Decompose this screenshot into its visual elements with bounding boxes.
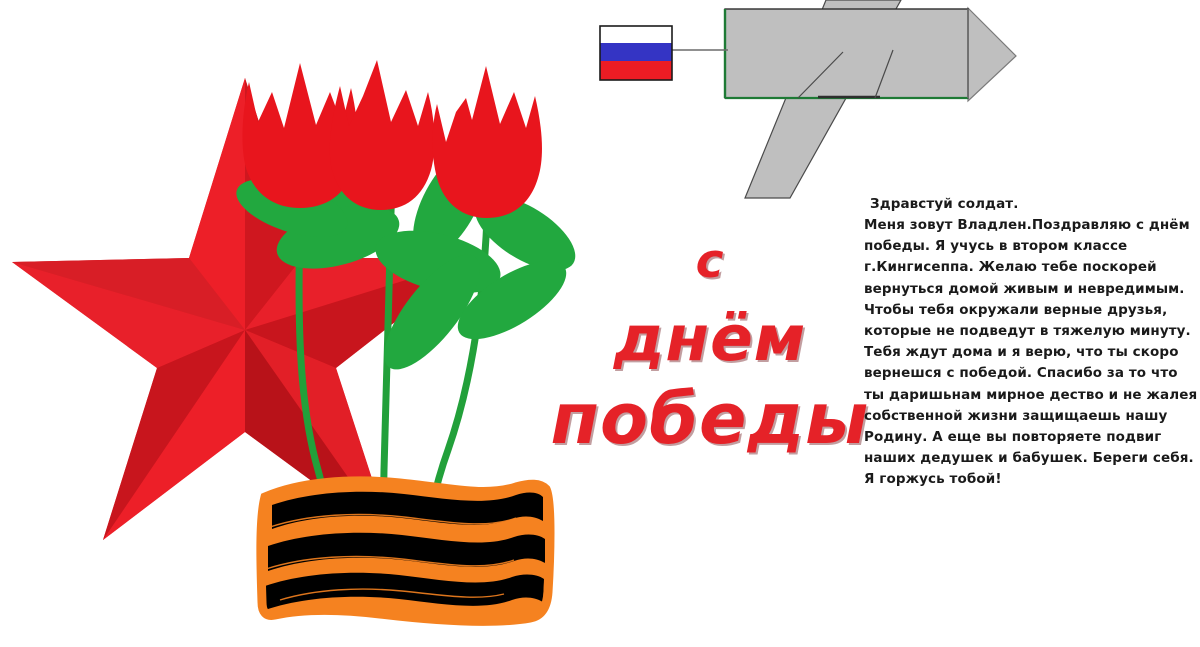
flag-stripe-blue — [600, 43, 672, 61]
flag-stripe-red — [600, 61, 672, 80]
letter-body: Меня зовут Владлен.Поздравляю с днёмпобе… — [864, 215, 1184, 491]
letter-line: Тебя ждут дома и я верю, что ты скоро — [864, 342, 1184, 363]
letter-salutation: Здравстуй солдат. — [870, 196, 1184, 212]
letter-text-block: Здравстуй солдат. Меня зовут Владлен.Поз… — [864, 196, 1184, 491]
ribbon-black-stripes — [265, 492, 545, 610]
arrow-head — [968, 8, 1016, 101]
tulip-blossoms — [242, 60, 542, 218]
letter-line: вернуться домой живым и невредимым. — [864, 279, 1184, 300]
grey-arrow-marker — [725, 0, 1016, 198]
letter-line: ты даришьнам мирное дество и не жалея — [864, 385, 1184, 406]
letter-line: Меня зовут Владлен.Поздравляю с днём — [864, 215, 1184, 236]
tulip-blossom-middle — [330, 60, 435, 210]
letter-line: Я горжусь тобой! — [864, 469, 1184, 490]
letter-line: Чтобы тебя окружали верные друзья, — [864, 300, 1184, 321]
letter-line: которые не подведут в тяжелую минуту. — [864, 321, 1184, 342]
flag-stripe-white — [600, 26, 672, 43]
letter-line: вернешся с победой. Спасибо за то что — [864, 363, 1184, 384]
letter-line: победы. Я учусь в втором классе — [864, 236, 1184, 257]
russian-flag — [600, 26, 672, 80]
letter-line: г.Кингисеппа. Желаю тебе поскорей — [864, 257, 1184, 278]
st-george-ribbon — [261, 481, 550, 621]
letter-line: собственной жизни защищаешь нашу — [864, 406, 1184, 427]
letter-line: Родину. А еще вы повторяете подвиг — [864, 427, 1184, 448]
letter-line: наших дедушек и бабушек. Береги себя. — [864, 448, 1184, 469]
arrow-body — [725, 9, 968, 98]
tulip-blossom-right — [433, 66, 542, 218]
greeting-card-canvas: с днём победы Здравстуй солдат. Меня зов… — [0, 0, 1200, 647]
